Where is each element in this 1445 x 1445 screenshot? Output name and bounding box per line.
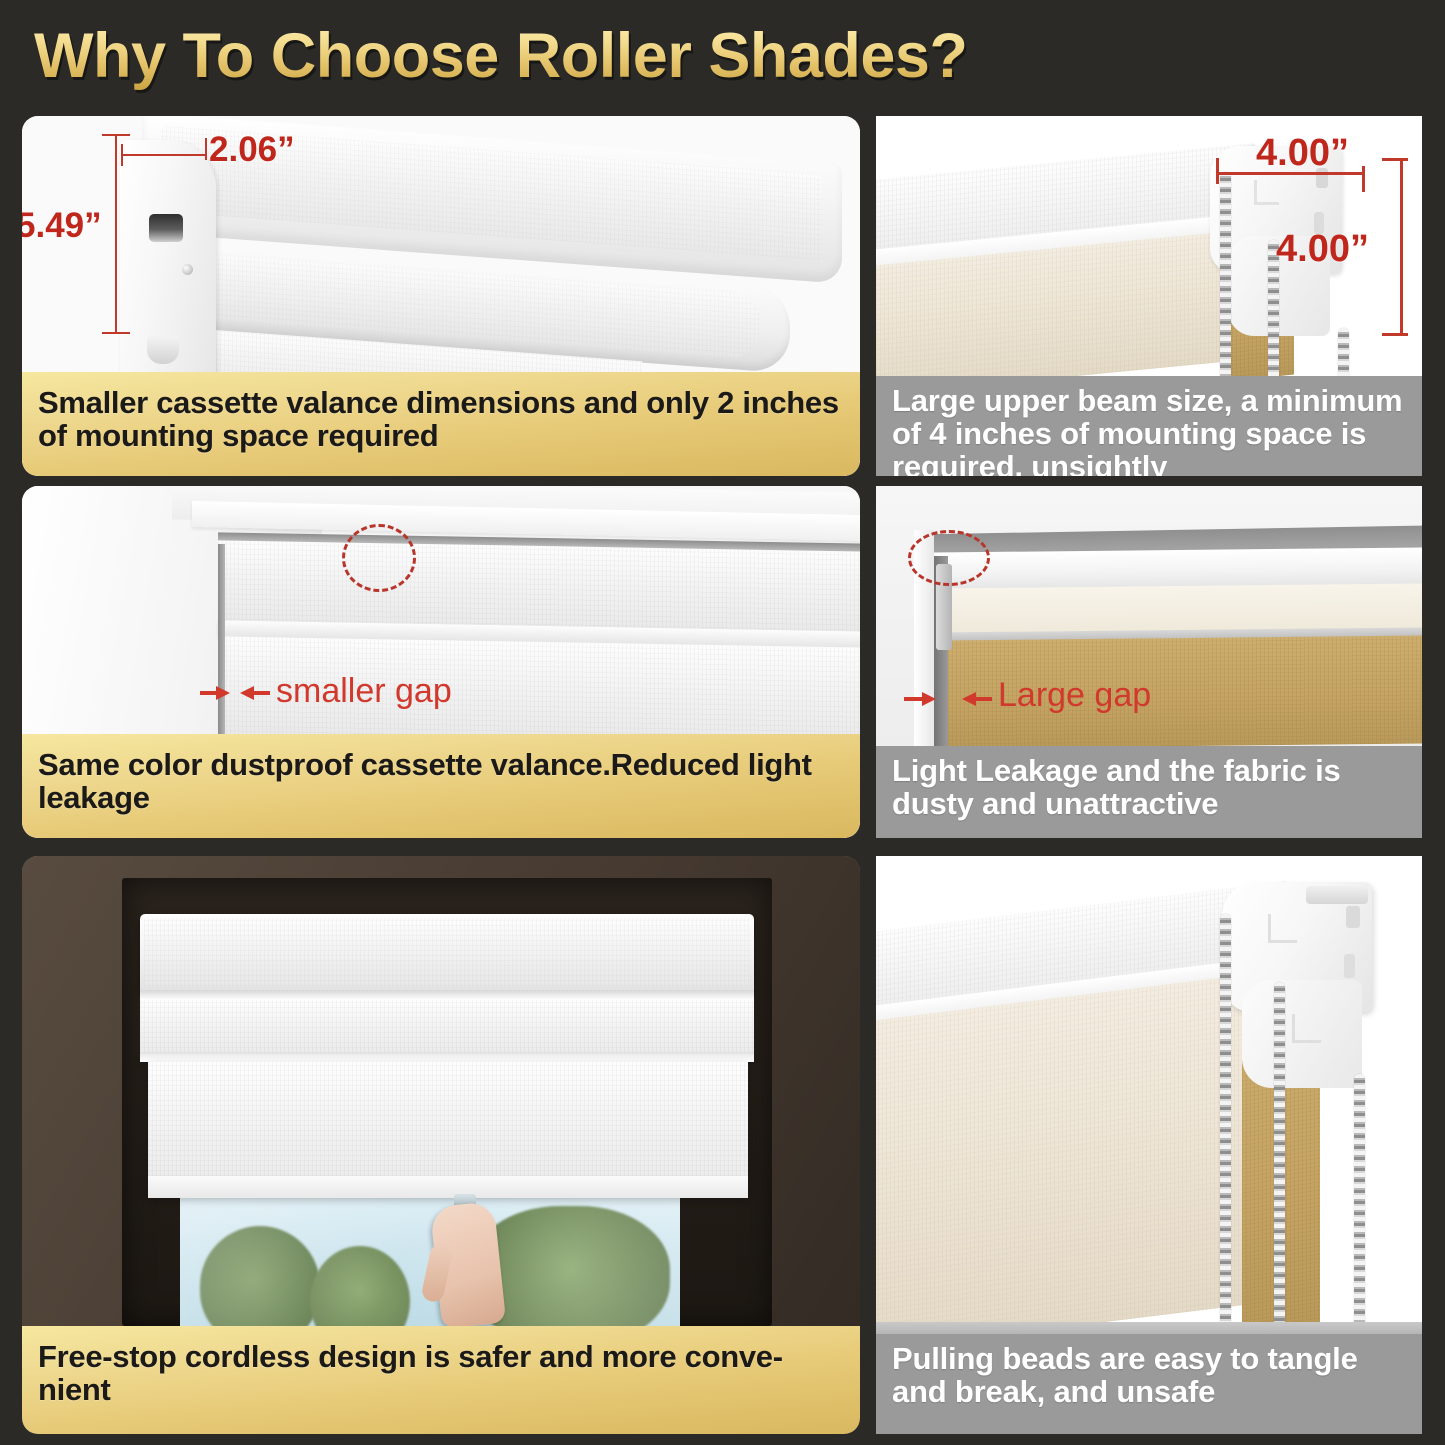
bead-chain-side[interactable] xyxy=(1338,328,1349,382)
gap-label-large: Large gap xyxy=(998,676,1151,715)
bracket-arrow-bottom-icon xyxy=(1292,1014,1321,1043)
end-cap-pin-icon xyxy=(147,336,179,364)
caption-large-upper-beam: Large upper beam size, a minimum of 4 in… xyxy=(876,376,1422,476)
side-gap xyxy=(218,544,225,742)
bracket-arrow-top-icon xyxy=(1268,914,1297,943)
beam-height-dimension-line xyxy=(1400,158,1403,336)
bracket-slot-top-icon xyxy=(1346,906,1360,928)
cassette-head-texture xyxy=(144,918,750,986)
caption-light-leakage: Light Leakage and the fabric is dusty an… xyxy=(876,746,1422,838)
bead-chain-1[interactable] xyxy=(1220,914,1231,1334)
shade-bottom-rail xyxy=(148,1176,748,1198)
highlight-circle xyxy=(342,524,416,592)
height-dimension-line xyxy=(115,134,117,334)
end-cap-slot-icon xyxy=(149,214,183,242)
panel-large-upper-beam: 4.00” 4.00” Large upper beam size, a min… xyxy=(876,116,1422,476)
beam-height-label: 4.00” xyxy=(1276,228,1369,271)
bracket-slot-mid-icon xyxy=(1344,954,1355,978)
panel-light-leakage: Large gap Light Leakage and the fabric i… xyxy=(876,486,1422,838)
bracket-clip-tab xyxy=(1306,886,1368,904)
gap-arrow-right-stem xyxy=(252,691,270,695)
beam-width-tick-left xyxy=(1216,158,1219,184)
height-dimension-tick-bottom xyxy=(102,332,130,334)
caption-text: Free-stop cordless design is safer and m… xyxy=(38,1340,844,1406)
end-cap-screw-icon xyxy=(182,264,193,275)
gap-arrow-left-icon xyxy=(922,692,936,706)
panel-free-stop-cordless: Free-stop cordless design is safer and m… xyxy=(22,856,860,1434)
caption-text: Light Leakage and the fabric is dusty an… xyxy=(892,754,1408,820)
bead-chain-front[interactable] xyxy=(1220,172,1231,382)
width-dimension-tick-right xyxy=(205,138,207,160)
caption-text: Smaller cassette valance dimensions and … xyxy=(38,386,844,452)
hanging-fabric-cream xyxy=(876,972,1266,1354)
panel-dustproof-cassette-valance: smaller gap Same color dustproof cassett… xyxy=(22,486,860,838)
width-dimension-line xyxy=(121,154,207,156)
floor-shadow xyxy=(876,1322,1422,1334)
gap-arrow-left-stem xyxy=(200,691,218,695)
caption-dustproof-cassette-valance: Same color dustproof cassette valance.Re… xyxy=(22,734,860,838)
bead-chain-3[interactable] xyxy=(1354,1074,1365,1334)
bead-chain-2[interactable] xyxy=(1274,982,1285,1334)
caption-free-stop-cordless: Free-stop cordless design is safer and m… xyxy=(22,1326,860,1434)
bracket-arrow-icon xyxy=(1254,180,1279,205)
gap-arrow-right-stem xyxy=(974,697,992,701)
panel-cassette-valance-dimensions: 5.49” 2.06” Smaller cassette valance dim… xyxy=(22,116,860,476)
width-dimension-label: 2.06” xyxy=(209,130,295,170)
gap-arrow-left-icon xyxy=(216,686,230,700)
height-dimension-tick-top xyxy=(102,134,130,136)
cassette-band-edge xyxy=(140,1054,754,1062)
valance-cream-band xyxy=(934,583,1422,634)
gap-arrow-left-stem xyxy=(904,697,924,701)
highlight-ellipse xyxy=(908,530,990,586)
comparison-grid: 5.49” 2.06” Smaller cassette valance dim… xyxy=(0,108,1445,1445)
cassette-second-band xyxy=(140,1000,754,1058)
beam-width-label: 4.00” xyxy=(1256,132,1349,175)
header: Why To Choose Roller Shades? xyxy=(0,0,1445,110)
caption-pulling-beads: Pulling beads are easy to tangle and bre… xyxy=(876,1334,1422,1434)
caption-text: Large upper beam size, a minimum of 4 in… xyxy=(892,384,1408,476)
cassette-head-groove xyxy=(140,990,754,1000)
width-dimension-tick-left xyxy=(121,144,123,166)
height-dimension-label: 5.49” xyxy=(22,206,102,246)
caption-cassette-valance-dimensions: Smaller cassette valance dimensions and … xyxy=(22,372,860,476)
caption-text: Pulling beads are easy to tangle and bre… xyxy=(892,1342,1408,1408)
beam-height-tick-top xyxy=(1382,158,1408,161)
beam-width-tick-right xyxy=(1362,166,1365,192)
page-title: Why To Choose Roller Shades? xyxy=(34,20,967,92)
panel-pulling-beads: Pulling beads are easy to tangle and bre… xyxy=(876,856,1422,1434)
beam-height-tick-bottom xyxy=(1382,333,1408,336)
gap-label-smaller: smaller gap xyxy=(276,672,452,711)
caption-text: Same color dustproof cassette valance.Re… xyxy=(38,748,844,814)
